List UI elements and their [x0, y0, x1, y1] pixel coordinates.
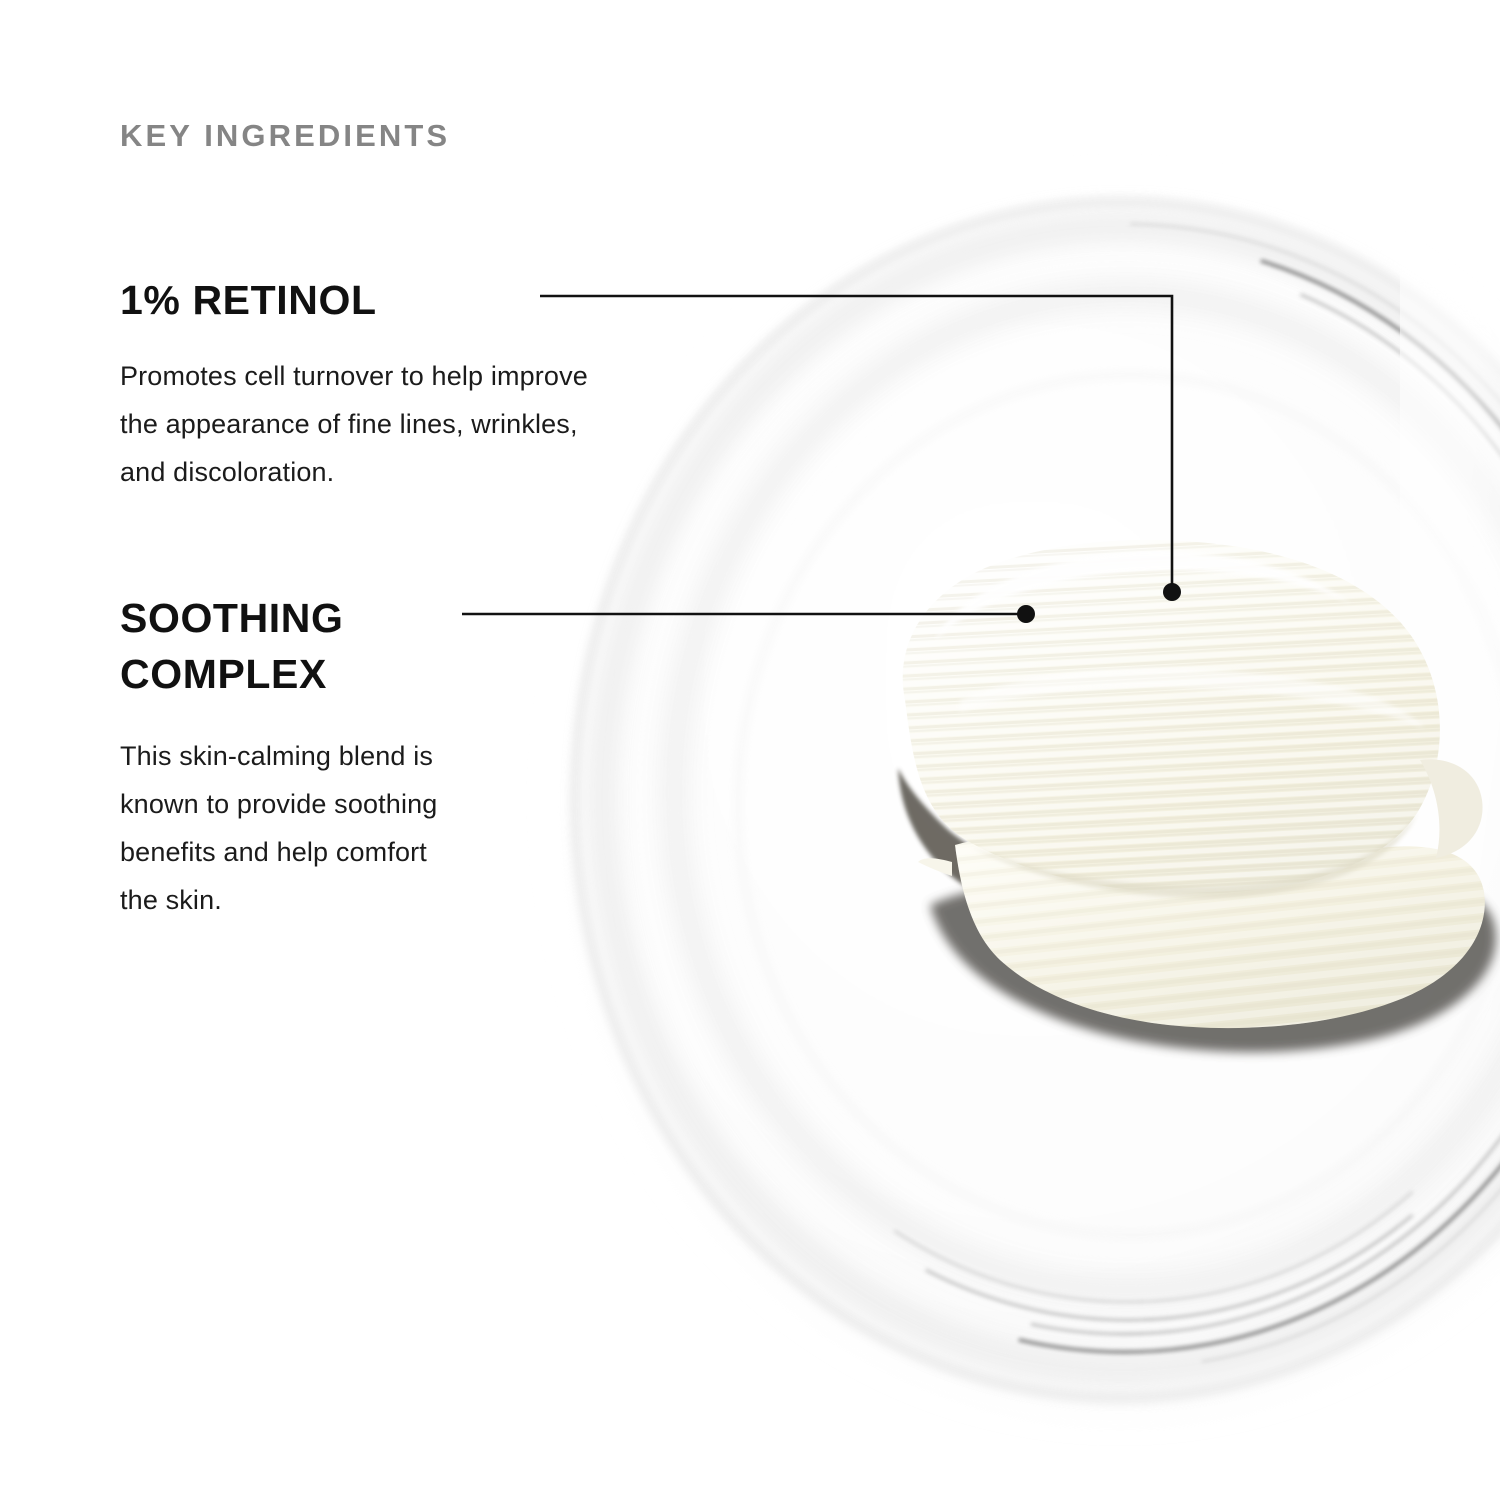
ingredient-block-soothing-complex: SOOTHING COMPLEX This skin-calming blend… — [120, 590, 437, 924]
section-eyebrow-label: KEY INGREDIENTS — [120, 118, 450, 154]
ingredient-title-soothing-complex: SOOTHING COMPLEX — [120, 590, 437, 702]
ingredient-block-retinol: 1% RETINOL Promotes cell turnover to hel… — [120, 272, 588, 496]
ingredient-title-retinol: 1% RETINOL — [120, 272, 588, 328]
ingredient-description-retinol: Promotes cell turnover to help improve t… — [120, 352, 588, 496]
product-ingredients-infographic: KEY INGREDIENTS 1% RETINOL Promotes cell… — [0, 0, 1500, 1500]
ingredient-description-soothing-complex: This skin-calming blend is known to prov… — [120, 732, 437, 924]
